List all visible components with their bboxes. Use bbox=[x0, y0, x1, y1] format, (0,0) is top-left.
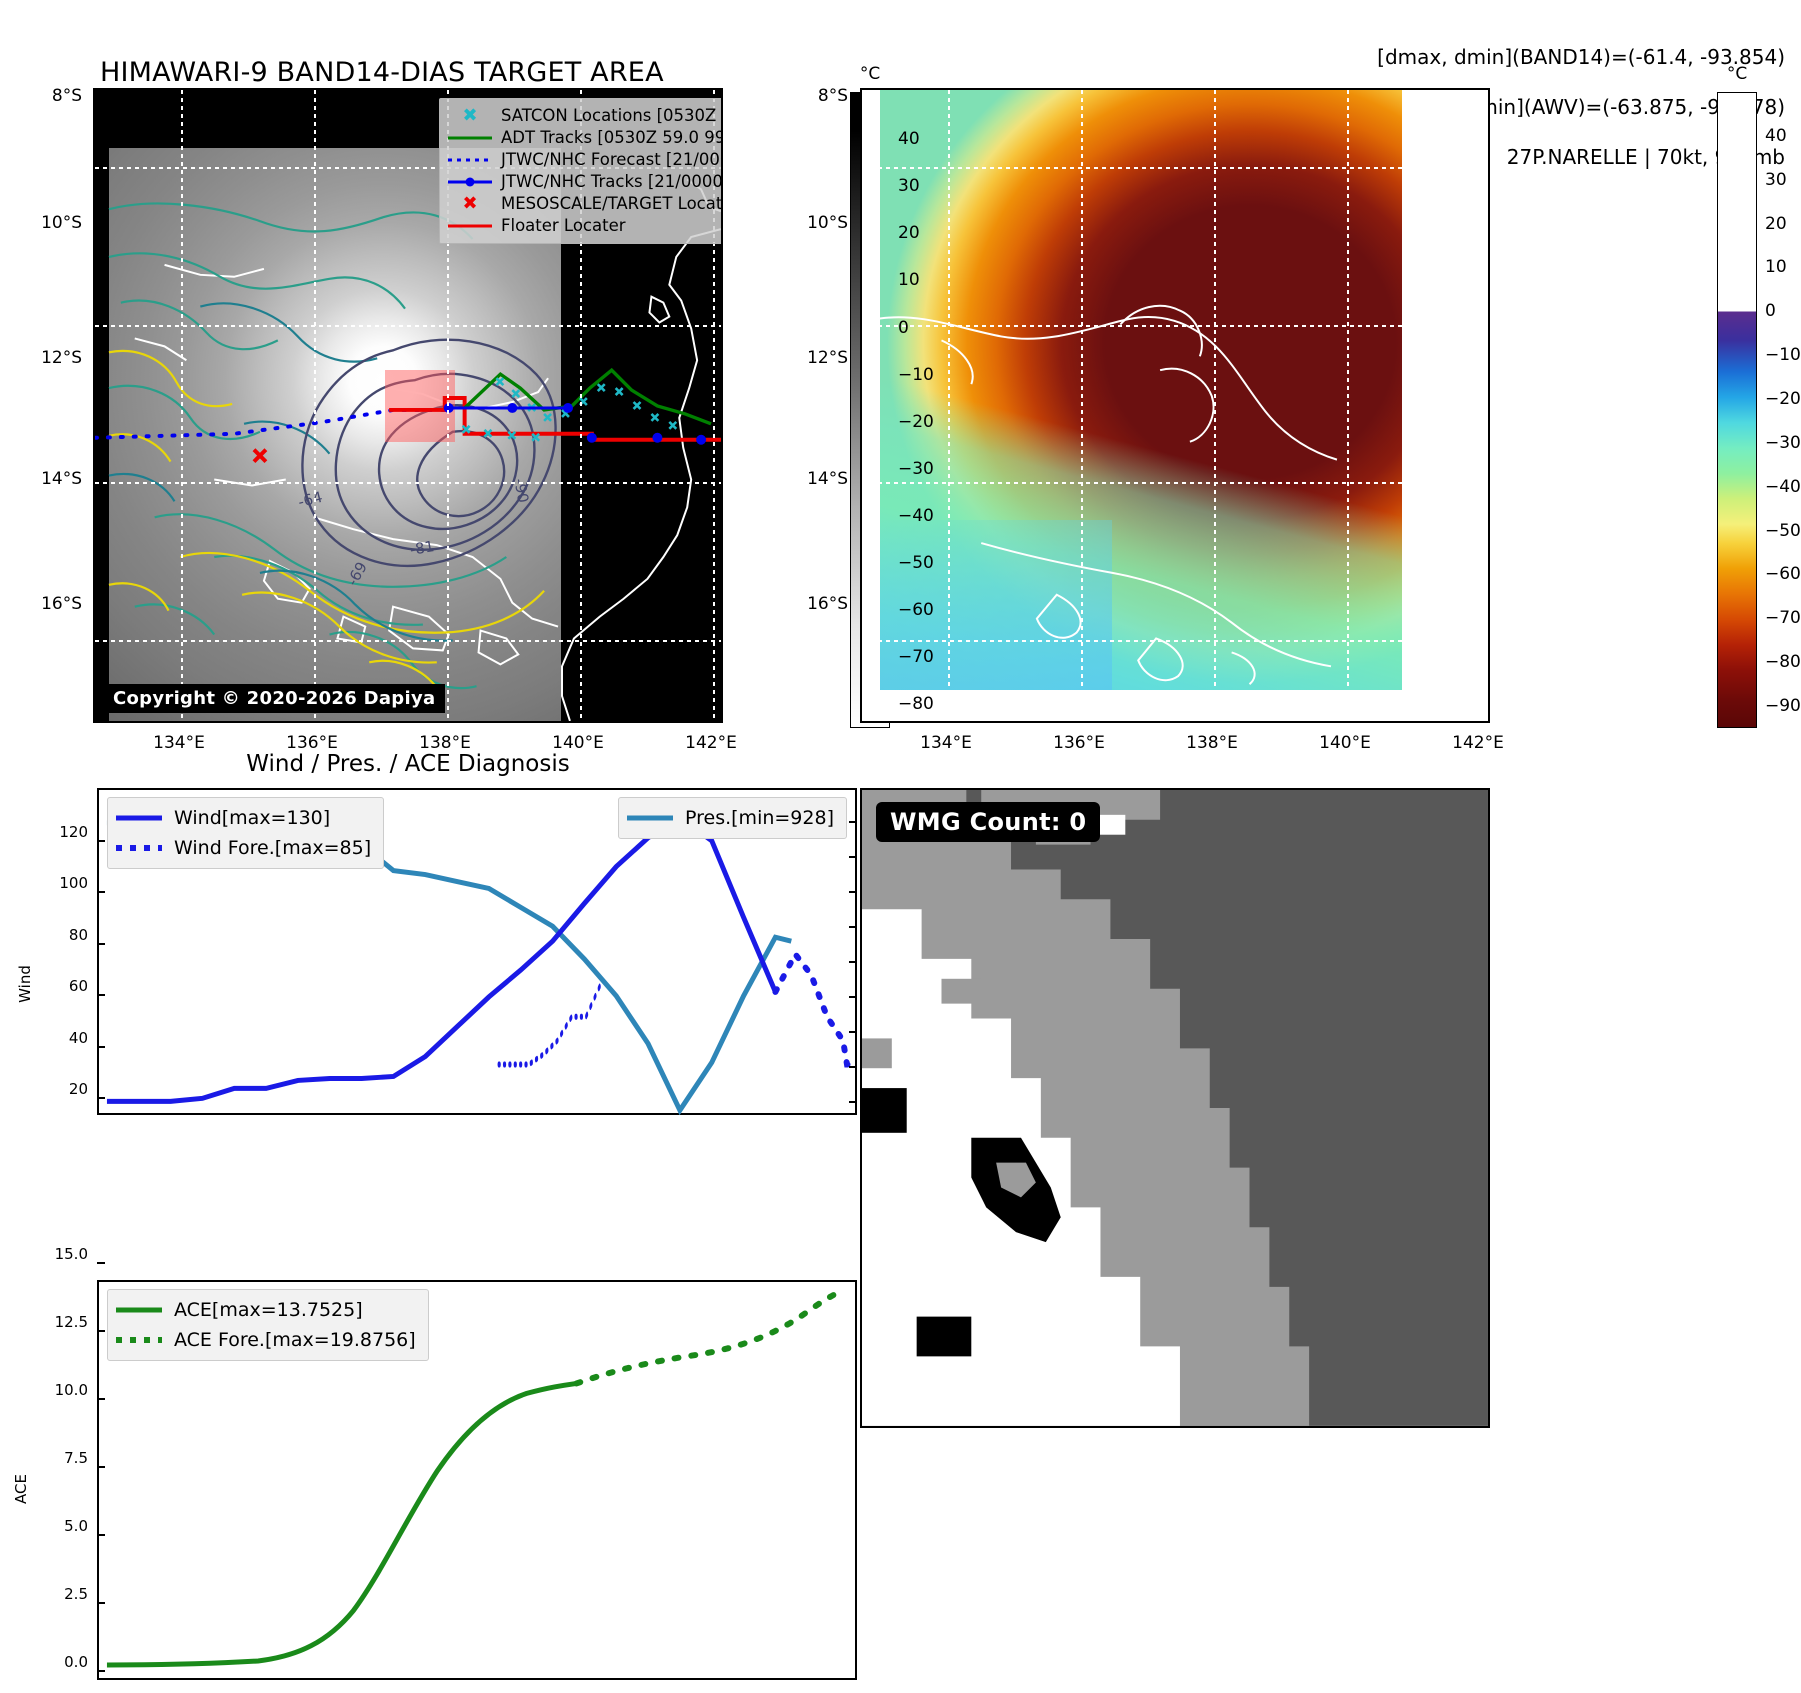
ir-band14-map[interactable]: -64 -90 -81 -69 bbox=[93, 88, 723, 723]
x-marker-icon: ✖ bbox=[448, 197, 492, 211]
axis-tick-mark bbox=[849, 856, 857, 858]
legend-item-mesoscale: ✖ MESOSCALE/TARGET Location bbox=[448, 193, 723, 215]
wind-ytick-100: 100 bbox=[59, 874, 88, 892]
jtwc-forecast-track bbox=[95, 410, 449, 438]
lon-tick-140e: 140°E bbox=[552, 733, 604, 753]
wind-legend: Wind[max=130] Wind Fore.[max=85] bbox=[107, 797, 384, 869]
colorbar-tick: 20 bbox=[1765, 214, 1787, 234]
series-ace bbox=[107, 1383, 577, 1665]
solid-line-icon bbox=[448, 131, 492, 145]
lat-tick-16s-awv: 16°S bbox=[780, 594, 848, 614]
awv-map[interactable] bbox=[860, 88, 1490, 723]
ace-legend: ACE[max=13.7525] ACE Fore.[max=19.8756] bbox=[107, 1289, 429, 1361]
colorbar-tick: 40 bbox=[898, 129, 920, 149]
colorbar-tick: 40 bbox=[1765, 126, 1787, 146]
colorbar-tick: 20 bbox=[898, 223, 920, 243]
wind-axis-label: Wind bbox=[16, 965, 34, 1003]
ace-ytick-2_5: 2.5 bbox=[64, 1585, 88, 1603]
wmg-count-badge: WMG Count: 0 bbox=[876, 802, 1100, 842]
wind-ytick-80: 80 bbox=[69, 926, 88, 944]
map-legend: ✖ SATCON Locations [0530Z 72 975] ADT Tr… bbox=[439, 98, 723, 244]
dotted-line-icon bbox=[116, 844, 162, 852]
axis-tick-mark bbox=[97, 1534, 105, 1536]
pressure-legend: Pres.[min=928] bbox=[618, 797, 847, 839]
line-with-dot-icon bbox=[448, 175, 492, 189]
colorbar-tick: −50 bbox=[898, 553, 934, 573]
legend-label: MESOSCALE/TARGET Location bbox=[501, 193, 723, 215]
legend-label: Pres.[min=928] bbox=[685, 803, 834, 833]
lon-tick-134e-awv: 134°E bbox=[920, 733, 972, 753]
lat-tick-10s: 10°S bbox=[14, 213, 82, 233]
left-colorbar-unit: °C bbox=[860, 64, 880, 84]
wmg-raster bbox=[862, 790, 1488, 1426]
axis-tick-mark bbox=[97, 1330, 105, 1332]
colorbar-tick: −60 bbox=[1765, 564, 1801, 584]
legend-item-pressure: Pres.[min=928] bbox=[627, 803, 834, 833]
lat-tick-12s-awv: 12°S bbox=[780, 348, 848, 368]
diagnosis-title: Wind / Pres. / ACE Diagnosis bbox=[246, 751, 569, 777]
lon-tick-136e-awv: 136°E bbox=[1053, 733, 1105, 753]
lat-tick-14s-awv: 14°S bbox=[780, 469, 848, 489]
colorbar-tick: −10 bbox=[1765, 345, 1801, 365]
colorbar-tick: −10 bbox=[898, 365, 934, 385]
legend-item-satcon: ✖ SATCON Locations [0530Z 72 975] bbox=[448, 105, 723, 127]
legend-label: JTWC/NHC Forecast [21/0000Z] bbox=[501, 149, 723, 171]
colorbar-tick: −80 bbox=[898, 694, 934, 714]
colorbar-tick: 0 bbox=[1765, 301, 1776, 321]
colorbar-tick: 0 bbox=[898, 318, 909, 338]
wind-ytick-20: 20 bbox=[69, 1080, 88, 1098]
axis-tick-mark bbox=[97, 1046, 105, 1048]
colorbar-tick: −60 bbox=[898, 600, 934, 620]
x-marker-icon: ✖ bbox=[448, 109, 492, 123]
series-wind-forecast-tail bbox=[499, 985, 601, 1065]
solid-line-icon bbox=[116, 1306, 162, 1314]
colorbar-tick: 30 bbox=[1765, 170, 1787, 190]
legend-label: JTWC/NHC Tracks [21/0000Z] bbox=[501, 171, 723, 193]
ace-ytick-7_5: 7.5 bbox=[64, 1449, 88, 1467]
right-colorbar-unit: °C bbox=[1727, 64, 1747, 84]
legend-item-wind-forecast: Wind Fore.[max=85] bbox=[116, 833, 371, 863]
colorbar-tick: −90 bbox=[1765, 696, 1801, 716]
lon-tick-140e-awv: 140°E bbox=[1319, 733, 1371, 753]
axis-tick-mark bbox=[849, 1101, 857, 1103]
colorbar-tick: −70 bbox=[1765, 608, 1801, 628]
wind-ytick-60: 60 bbox=[69, 977, 88, 995]
legend-item-ace-forecast: ACE Fore.[max=19.8756] bbox=[116, 1325, 416, 1355]
colorbar-tick: −40 bbox=[898, 506, 934, 526]
ace-ytick-10: 10.0 bbox=[55, 1381, 88, 1399]
legend-label: ADT Tracks [0530Z 59.0 990.8] bbox=[501, 127, 723, 149]
lon-tick-138e: 138°E bbox=[419, 733, 471, 753]
axis-tick-mark bbox=[849, 926, 857, 928]
right-colorbar bbox=[1717, 92, 1757, 728]
ace-ytick-0: 0.0 bbox=[64, 1653, 88, 1671]
axis-tick-mark bbox=[849, 1066, 857, 1068]
solid-line-icon bbox=[448, 219, 492, 233]
legend-label: Wind[max=130] bbox=[174, 803, 330, 833]
legend-item-adt: ADT Tracks [0530Z 59.0 990.8] bbox=[448, 127, 723, 149]
mesoscale-target-marker bbox=[254, 450, 266, 462]
legend-label: Wind Fore.[max=85] bbox=[174, 833, 371, 863]
axis-tick-mark bbox=[849, 961, 857, 963]
lon-tick-142e-awv: 142°E bbox=[1452, 733, 1504, 753]
legend-item-floater: Floater Locater bbox=[448, 215, 723, 237]
axis-tick-mark bbox=[97, 1602, 105, 1604]
solid-line-icon bbox=[627, 814, 673, 822]
colorbar-tick: −80 bbox=[1765, 652, 1801, 672]
legend-item-ace: ACE[max=13.7525] bbox=[116, 1295, 416, 1325]
axis-tick-mark bbox=[97, 1097, 105, 1099]
series-wind-forecast bbox=[775, 954, 855, 1064]
ace-ytick-5: 5.0 bbox=[64, 1517, 88, 1535]
solid-line-icon bbox=[116, 814, 162, 822]
lon-tick-138e-awv: 138°E bbox=[1186, 733, 1238, 753]
ace-ytick-12_5: 12.5 bbox=[55, 1313, 88, 1331]
axis-tick-mark bbox=[97, 891, 105, 893]
colorbar-tick: −70 bbox=[898, 647, 934, 667]
legend-label: ACE Fore.[max=19.8756] bbox=[174, 1325, 416, 1355]
page-title-line1: HIMAWARI-9 BAND14-DIAS TARGET AREA bbox=[100, 56, 664, 90]
axis-tick-mark bbox=[849, 821, 857, 823]
colorbar-tick: −50 bbox=[1765, 521, 1801, 541]
axis-tick-mark bbox=[97, 1466, 105, 1468]
ace-chart[interactable]: ACE[max=13.7525] ACE Fore.[max=19.8756] bbox=[97, 1280, 857, 1680]
axis-tick-mark bbox=[849, 1031, 857, 1033]
colorbar-tick: −20 bbox=[1765, 389, 1801, 409]
lat-tick-16s: 16°S bbox=[14, 594, 82, 614]
lat-tick-10s-awv: 10°S bbox=[780, 213, 848, 233]
legend-label: SATCON Locations [0530Z 72 975] bbox=[501, 105, 723, 127]
colorbar-tick: −40 bbox=[1765, 477, 1801, 497]
lon-tick-136e: 136°E bbox=[286, 733, 338, 753]
colorbar-tick: −30 bbox=[898, 459, 934, 479]
colorbar-tick: 10 bbox=[898, 270, 920, 290]
axis-tick-mark bbox=[849, 996, 857, 998]
colorbar-tick: 10 bbox=[1765, 257, 1787, 277]
axis-tick-mark bbox=[849, 891, 857, 893]
colorbar-tick: −20 bbox=[898, 412, 934, 432]
lat-tick-14s: 14°S bbox=[14, 469, 82, 489]
legend-item-jtwc-tracks: JTWC/NHC Tracks [21/0000Z] bbox=[448, 171, 723, 193]
colorbar-tick: 30 bbox=[898, 176, 920, 196]
lon-tick-134e: 134°E bbox=[153, 733, 205, 753]
legend-item-wind: Wind[max=130] bbox=[116, 803, 371, 833]
wind-ytick-40: 40 bbox=[69, 1029, 88, 1047]
series-ace-forecast bbox=[576, 1290, 843, 1384]
axis-tick-mark bbox=[97, 1262, 105, 1264]
ace-axis-label: ACE bbox=[12, 1474, 30, 1504]
coastline-overlay-awv bbox=[862, 90, 1488, 721]
wind-pressure-chart[interactable]: Wind[max=130] Wind Fore.[max=85] Pres.[m… bbox=[97, 788, 857, 1115]
dotted-line-icon bbox=[448, 153, 492, 167]
ace-ytick-15: 15.0 bbox=[55, 1245, 88, 1263]
dotted-line-icon bbox=[116, 1336, 162, 1344]
wind-ytick-120: 120 bbox=[59, 823, 88, 841]
legend-label: Floater Locater bbox=[501, 215, 626, 237]
axis-tick-mark bbox=[97, 1670, 105, 1672]
lon-tick-142e: 142°E bbox=[685, 733, 737, 753]
axis-tick-mark bbox=[97, 840, 105, 842]
copyright-badge: Copyright © 2020-2026 Dapiya bbox=[103, 684, 445, 713]
axis-tick-mark bbox=[97, 943, 105, 945]
colorbar-tick: −30 bbox=[1765, 433, 1801, 453]
floater-locater-track bbox=[389, 398, 721, 440]
axis-tick-mark bbox=[97, 994, 105, 996]
wmg-panel[interactable]: WMG Count: 0 bbox=[860, 788, 1490, 1428]
legend-item-jtwc-forecast: JTWC/NHC Forecast [21/0000Z] bbox=[448, 149, 723, 171]
lat-tick-12s: 12°S bbox=[14, 348, 82, 368]
lat-tick-8s: 8°S bbox=[24, 86, 82, 106]
legend-label: ACE[max=13.7525] bbox=[174, 1295, 363, 1325]
lat-tick-8s-awv: 8°S bbox=[790, 86, 848, 106]
dmax-dmin-band14: [dmax, dmin](BAND14)=(-61.4, -93.854) bbox=[1377, 45, 1785, 70]
axis-tick-mark bbox=[97, 1398, 105, 1400]
